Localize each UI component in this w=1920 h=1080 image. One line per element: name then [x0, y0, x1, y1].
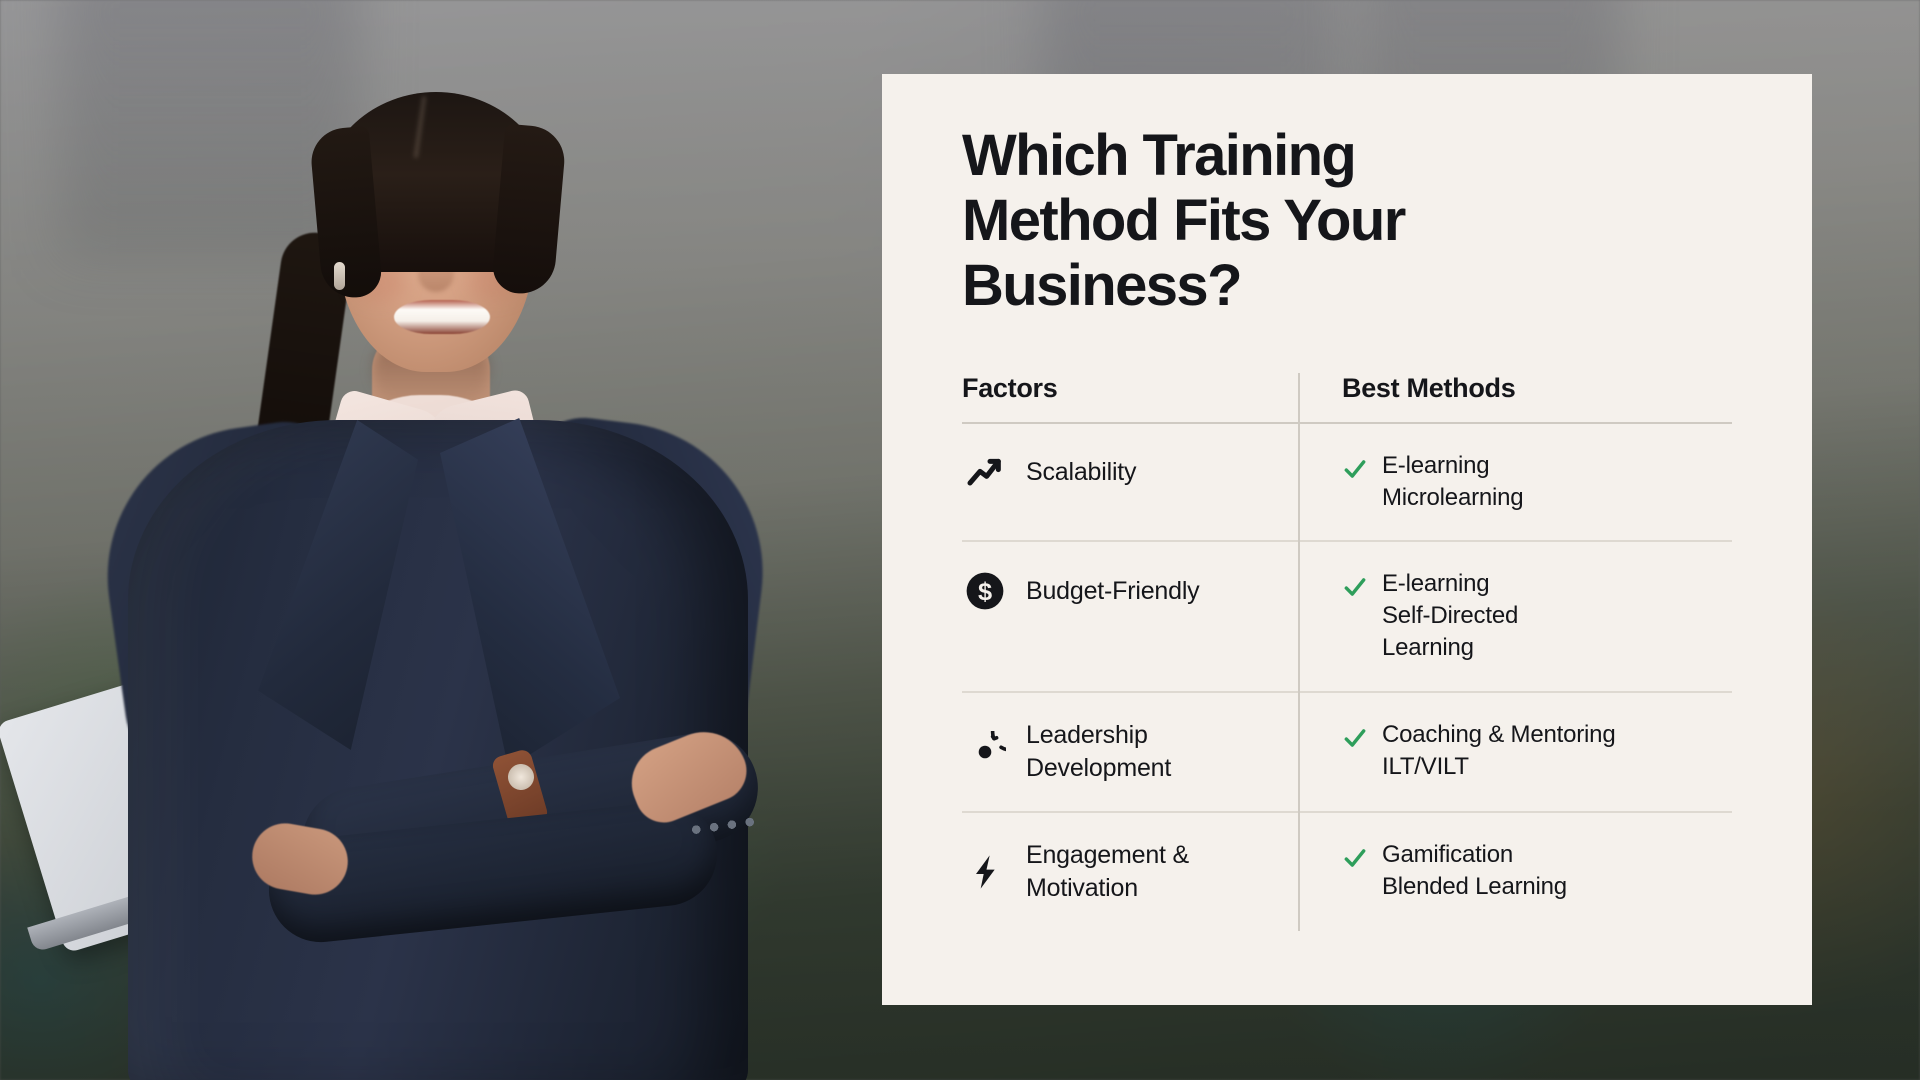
- method-list: Gamification Blended Learning: [1382, 839, 1567, 903]
- methods-cell: Gamification Blended Learning: [1298, 839, 1732, 903]
- hair-side-right: [491, 124, 567, 297]
- column-header-factors: Factors: [962, 373, 1057, 404]
- poster-canvas: Which Training Method Fits Your Business…: [0, 0, 1920, 1080]
- check-icon: [1342, 574, 1368, 600]
- table-header-methods-cell: Best Methods: [1298, 373, 1732, 404]
- factor-cell: $ Budget-Friendly: [962, 568, 1298, 614]
- methods-cell: E-learning Microlearning: [1298, 450, 1732, 514]
- method-item: Blended Learning: [1382, 871, 1567, 903]
- column-header-best-methods: Best Methods: [1342, 373, 1515, 404]
- businesswoman-photo: [0, 0, 880, 1080]
- method-list: E-learning Self-Directed Learning: [1382, 568, 1518, 664]
- check-icon: [1342, 845, 1368, 871]
- table-row: Scalability E-learning Microlearning: [962, 424, 1732, 542]
- table-row: Engagement & Motivation Gamification Ble…: [962, 813, 1732, 931]
- table-header-row: Factors Best Methods: [962, 373, 1732, 424]
- check-icon: [1342, 725, 1368, 751]
- check-icon: [1342, 456, 1368, 482]
- methods-cell: Coaching & Mentoring ILT/VILT: [1298, 719, 1732, 783]
- dollar-circle-icon: $: [962, 568, 1008, 614]
- table-header-factors-cell: Factors: [962, 373, 1298, 404]
- factor-cell: Scalability: [962, 450, 1298, 496]
- comparison-table: Factors Best Methods: [962, 373, 1732, 931]
- method-item: E-learning: [1382, 450, 1523, 482]
- method-item: E-learning: [1382, 568, 1518, 600]
- method-item: Gamification: [1382, 839, 1567, 871]
- factor-label: Budget-Friendly: [1026, 575, 1199, 608]
- factor-cell: Engagement & Motivation: [962, 839, 1298, 905]
- table-row: Leadership Development Coaching & Mentor…: [962, 693, 1732, 813]
- page-title: Which Training Method Fits Your Business…: [962, 124, 1562, 319]
- method-item: Coaching & Mentoring: [1382, 719, 1615, 751]
- method-item: Microlearning: [1382, 482, 1523, 514]
- factor-label: Engagement & Motivation: [1026, 839, 1274, 905]
- factor-cell: Leadership Development: [962, 719, 1298, 785]
- target-icon: [962, 729, 1008, 775]
- smiling-mouth: [394, 300, 490, 334]
- table-row: $ Budget-Friendly E-learning: [962, 542, 1732, 692]
- method-item: Learning: [1382, 632, 1518, 664]
- trending-up-icon: [962, 450, 1008, 496]
- methods-cell: E-learning Self-Directed Learning: [1298, 568, 1732, 664]
- method-item: Self-Directed: [1382, 600, 1518, 632]
- method-list: E-learning Microlearning: [1382, 450, 1523, 514]
- lightning-bolt-icon: [962, 849, 1008, 895]
- factor-label: Scalability: [1026, 456, 1136, 489]
- factor-label: Leadership Development: [1026, 719, 1274, 785]
- svg-text:$: $: [978, 578, 992, 606]
- earring: [334, 262, 345, 290]
- method-list: Coaching & Mentoring ILT/VILT: [1382, 719, 1615, 783]
- method-item: ILT/VILT: [1382, 751, 1615, 783]
- table-column-divider: [1298, 373, 1300, 931]
- info-card: Which Training Method Fits Your Business…: [882, 74, 1812, 1005]
